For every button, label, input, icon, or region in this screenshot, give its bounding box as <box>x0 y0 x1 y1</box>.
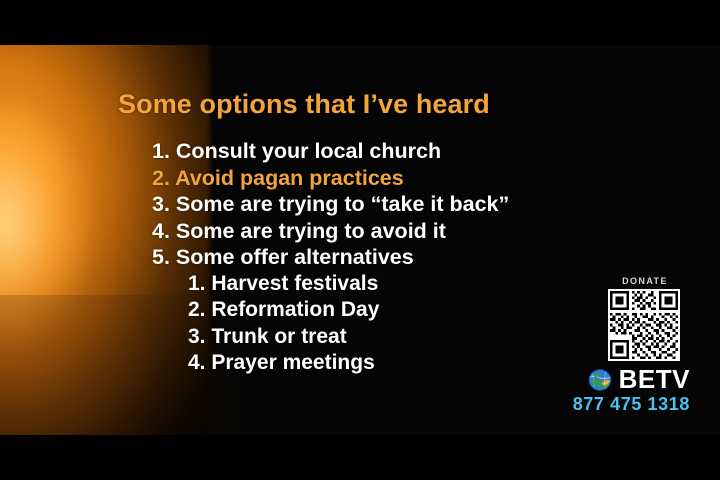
donate-qr-code[interactable] <box>608 289 680 361</box>
brand-name: BETV <box>619 364 690 395</box>
letterbox-bar-top <box>0 0 720 45</box>
bullet-list: 1. Consult your local church 2. Avoid pa… <box>152 138 672 377</box>
presentation-slide: Some options that I’ve heard 1. Consult … <box>0 45 720 435</box>
phone-number: 877 475 1318 <box>573 394 690 415</box>
list-item: 3. Trunk or treat <box>152 324 672 351</box>
video-frame: Some options that I’ve heard 1. Consult … <box>0 0 720 480</box>
list-item: 3. Some are trying to “take it back” <box>152 191 672 218</box>
list-item: 2. Reformation Day <box>152 297 672 324</box>
qr-icon <box>610 291 678 359</box>
globe-icon <box>586 367 616 393</box>
letterbox-bar-bottom <box>0 435 720 480</box>
channel-logo: BETV <box>586 364 690 395</box>
list-item: 1. Harvest festivals <box>152 271 672 298</box>
list-item: 4. Some are trying to avoid it <box>152 218 672 245</box>
donate-label: DONATE <box>608 276 682 286</box>
donate-block[interactable]: DONATE <box>608 276 682 361</box>
globe-icon-svg <box>586 367 616 393</box>
list-item: 1. Consult your local church <box>152 138 672 165</box>
list-item: 2. Avoid pagan practices <box>152 165 672 192</box>
slide-title: Some options that I’ve heard <box>118 89 490 120</box>
list-item: 5. Some offer alternatives <box>152 244 672 271</box>
